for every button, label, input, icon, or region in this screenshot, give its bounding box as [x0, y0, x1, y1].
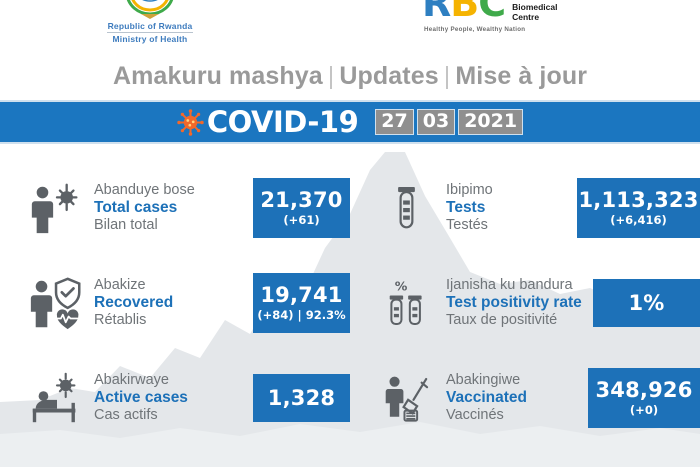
stat-labels: Abakize Recovered Rétablis — [88, 277, 253, 328]
stat-label-fr: Testés — [446, 217, 577, 234]
updates-title-rw: Amakuru mashya — [113, 62, 323, 90]
stat-label-en: Recovered — [94, 294, 253, 312]
test-tube-icon — [378, 177, 440, 239]
stat-delta: (+84) | 92.3% — [257, 308, 345, 322]
stat-card-recovered: Abakize Recovered Rétablis 19,741 (+84) … — [0, 255, 350, 350]
stat-value-box: 1,113,323 (+6,416) — [577, 178, 700, 238]
moh-line-1: Republic of Rwanda — [108, 21, 193, 31]
rbc-letter-c: C — [478, 0, 505, 25]
stat-row: Abakize Recovered Rétablis 19,741 (+84) … — [0, 255, 700, 350]
stat-label-fr: Vaccinés — [446, 407, 588, 424]
stat-label-rw: Abanduye bose — [94, 182, 253, 199]
rbc-name-line-3: Centre — [512, 12, 557, 23]
updates-title-separator-2: | — [439, 62, 456, 90]
rbc-name-line-2: Biomedical — [512, 2, 557, 13]
stat-labels: Abanduye bose Total cases Bilan total — [88, 182, 253, 233]
stat-label-rw: Ijanisha ku bandura — [446, 277, 593, 294]
statistics-grid: Abanduye bose Total cases Bilan total 21… — [0, 144, 700, 445]
stat-value-box: 1% — [593, 279, 700, 327]
rbc-letters: RBC — [422, 0, 505, 18]
stat-label-en: Test positivity rate — [446, 294, 593, 312]
stat-labels: Abakirwaye Active cases Cas actifs — [88, 372, 253, 423]
rwanda-biomedical-centre-logo: RBC Rwanda Biomedical Centre Healthy Peo… — [422, 0, 652, 33]
stat-card-test-positivity-rate: % Ijanisha ku bandura Test positivity ra… — [350, 255, 700, 350]
stat-label-rw: Abakize — [94, 277, 253, 294]
covid-banner: COVID-19 27 03 2021 — [0, 100, 700, 144]
moh-divider — [107, 32, 193, 33]
stat-label-fr: Rétablis — [94, 312, 253, 329]
person-syringe-icon — [378, 367, 440, 429]
stat-value-box: 348,926 (+0) — [588, 368, 700, 428]
stat-label-en: Active cases — [94, 389, 253, 407]
stat-delta: (+61) — [283, 213, 319, 227]
stat-row: Abanduye bose Total cases Bilan total 21… — [0, 160, 700, 255]
updates-title-fr: Mise à jour — [455, 62, 587, 90]
covid-title: COVID-19 — [207, 105, 358, 139]
stat-value: 19,741 — [260, 283, 342, 307]
page-header: Republic of Rwanda Ministry of Health RB… — [0, 0, 700, 60]
stat-label-rw: Abakirwaye — [94, 372, 253, 389]
stat-card-total-cases: Abanduye bose Total cases Bilan total 21… — [0, 160, 350, 255]
stat-row: Abakirwaye Active cases Cas actifs 1,328 — [0, 350, 700, 445]
moh-line-2: Ministry of Health — [113, 34, 188, 44]
updates-title: Amakuru mashya|Updates|Mise à jour — [0, 62, 700, 91]
date-day: 27 — [375, 109, 413, 135]
stat-value-box: 21,370 (+61) — [253, 178, 350, 238]
svg-text:%: % — [395, 278, 408, 293]
stat-card-tests: Ibipimo Tests Testés 1,113,323 (+6,416) — [350, 160, 700, 255]
banner-date: 27 03 2021 — [375, 109, 523, 135]
stat-value-box: 1,328 — [253, 374, 350, 422]
stat-value: 1,113,323 — [578, 188, 698, 212]
stat-label-fr: Bilan total — [94, 217, 253, 234]
rbc-letter-b: B — [450, 0, 478, 25]
rbc-name: Rwanda Biomedical Centre — [512, 0, 557, 23]
person-shield-heart-icon — [26, 272, 88, 334]
stat-card-vaccinated: Abakingiwe Vaccinated Vaccinés 348,926 (… — [350, 350, 700, 445]
stat-label-en: Vaccinated — [446, 389, 588, 407]
stat-label-fr: Cas actifs — [94, 407, 253, 424]
stat-label-fr: Taux de positivité — [446, 312, 593, 329]
stat-value: 21,370 — [260, 188, 342, 212]
person-virus-icon — [26, 177, 88, 239]
stat-card-active-cases: Abakirwaye Active cases Cas actifs 1,328 — [0, 350, 350, 445]
stat-value: 348,926 — [595, 378, 692, 402]
date-month: 03 — [417, 109, 455, 135]
stat-value-box: 19,741 (+84) | 92.3% — [253, 273, 350, 333]
stat-labels: Abakingiwe Vaccinated Vaccinés — [440, 372, 588, 423]
date-year: 2021 — [458, 109, 523, 135]
stat-labels: Ijanisha ku bandura Test positivity rate… — [440, 277, 593, 328]
rbc-letter-r: R — [422, 0, 450, 25]
stat-labels: Ibipimo Tests Testés — [440, 182, 577, 233]
stat-value: 1,328 — [268, 386, 335, 410]
stat-delta: (+0) — [630, 403, 658, 417]
stat-label-en: Total cases — [94, 199, 253, 217]
percent-test-tubes-icon: % — [378, 272, 440, 334]
stat-value: 1% — [628, 291, 664, 315]
stat-delta: (+6,416) — [610, 213, 667, 227]
person-in-bed-virus-icon — [26, 367, 88, 429]
rbc-tagline: Healthy People, Wealthy Nation — [424, 26, 525, 33]
ministry-of-health-logo: Republic of Rwanda Ministry of Health — [50, 0, 250, 44]
updates-title-en: Updates — [339, 62, 438, 90]
updates-title-separator-1: | — [323, 62, 340, 90]
stat-label-rw: Abakingiwe — [446, 372, 588, 389]
coronavirus-icon — [177, 109, 204, 136]
stat-label-en: Tests — [446, 199, 577, 217]
stat-label-rw: Ibipimo — [446, 182, 577, 199]
rwanda-coat-of-arms-icon — [119, 0, 181, 20]
